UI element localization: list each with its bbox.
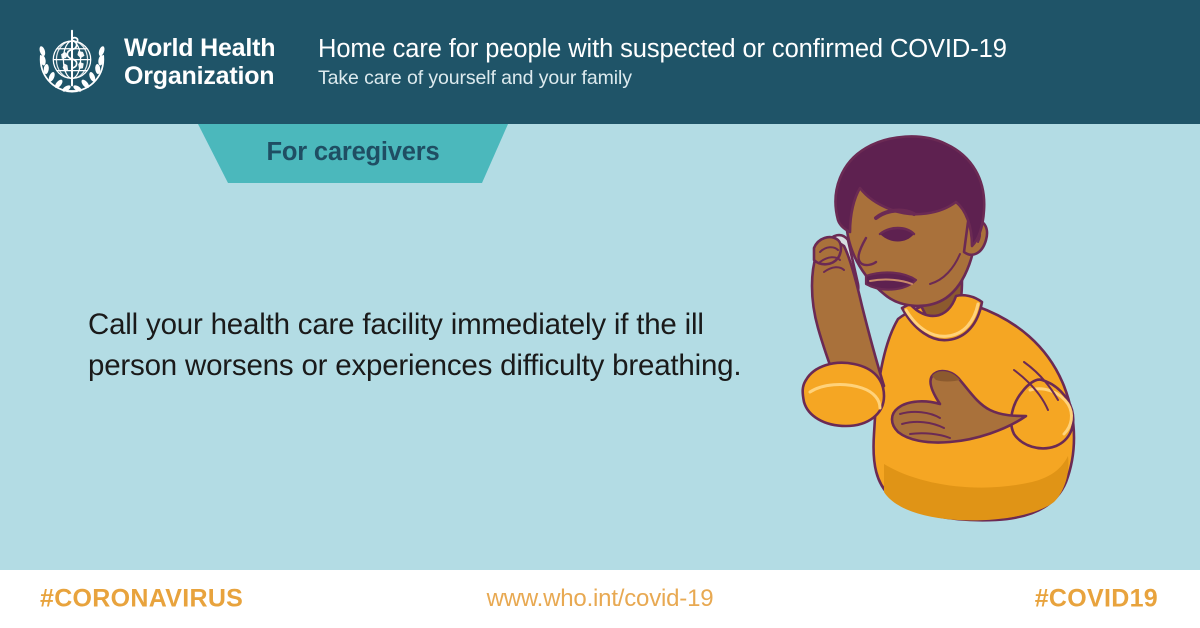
who-covid19-home-care-poster: World Health Organization Home care for …: [0, 0, 1200, 628]
who-emblem-icon: [33, 23, 111, 101]
who-covid-url[interactable]: www.who.int/covid-19: [0, 585, 1200, 613]
poster-header: World Health Organization Home care for …: [0, 0, 1200, 124]
person-calling-health-facility-illustration: [780, 134, 1110, 564]
header-text-block: Home care for people with suspected or c…: [318, 33, 1007, 92]
main-message: Call your health care facility immediate…: [88, 304, 748, 386]
poster-footer: #CORONAVIRUS www.who.int/covid-19 #COVID…: [0, 570, 1200, 628]
poster-body: For caregivers Call your health care fac…: [0, 124, 1200, 570]
hashtag-covid19: #COVID19: [1035, 585, 1158, 614]
who-wordmark-line2: Organization: [124, 62, 275, 90]
poster-subtitle: Take care of yourself and your family: [318, 65, 1007, 92]
who-wordmark-line1: World Health: [124, 34, 275, 62]
who-logo: World Health Organization: [33, 23, 291, 101]
banner-label: For caregivers: [196, 124, 510, 183]
for-caregivers-banner: For caregivers: [196, 124, 510, 183]
who-wordmark: World Health Organization: [124, 34, 275, 90]
poster-title: Home care for people with suspected or c…: [318, 33, 1007, 65]
